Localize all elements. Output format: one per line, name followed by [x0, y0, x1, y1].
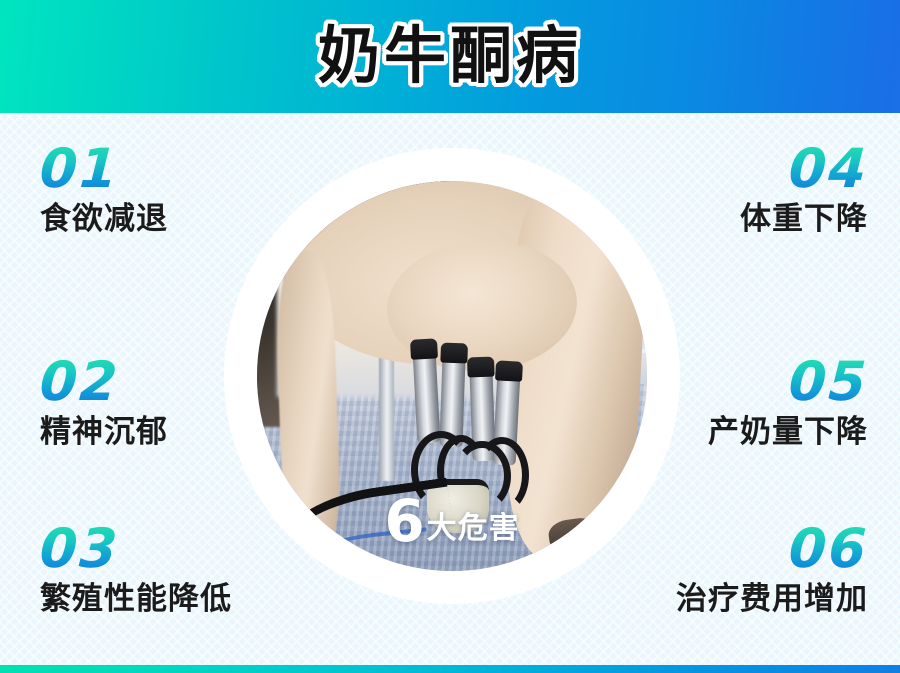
item-number-03: 03: [39, 522, 121, 576]
item-number-02: 02: [39, 355, 121, 409]
item-label-04: 体重下降: [740, 202, 868, 238]
page-title: 奶牛酮病: [318, 25, 582, 87]
infographic-poster: 奶牛酮病: [0, 0, 900, 673]
milking-cow-photo: 6 大危害: [257, 181, 647, 571]
item-number-04: 04: [787, 142, 869, 196]
item-02[interactable]: 02 精神沉郁: [40, 355, 168, 451]
item-number-06: 06: [787, 522, 869, 576]
caption-number: 6: [384, 496, 424, 547]
header-banner: 奶牛酮病: [0, 0, 900, 113]
item-06[interactable]: 06 治疗费用增加: [676, 522, 868, 618]
item-05[interactable]: 05 产奶量下降: [708, 355, 868, 451]
bottom-accent-bar: [0, 665, 900, 673]
item-03[interactable]: 03 繁殖性能降低: [40, 522, 232, 618]
item-04[interactable]: 04 体重下降: [740, 142, 868, 238]
caption-text: 大危害: [427, 513, 520, 548]
item-label-05: 产奶量下降: [708, 415, 868, 451]
photo-caption: 6 大危害: [257, 496, 647, 547]
item-label-03: 繁殖性能降低: [40, 582, 232, 618]
teat-cup-1: [413, 350, 441, 443]
item-number-05: 05: [787, 355, 869, 409]
item-01[interactable]: 01 食欲减退: [40, 142, 168, 238]
item-label-01: 食欲减退: [40, 202, 168, 238]
item-number-01: 01: [39, 142, 121, 196]
item-label-02: 精神沉郁: [40, 415, 168, 451]
item-label-06: 治疗费用增加: [676, 582, 868, 618]
center-circle-frame: 6 大危害: [224, 148, 680, 604]
